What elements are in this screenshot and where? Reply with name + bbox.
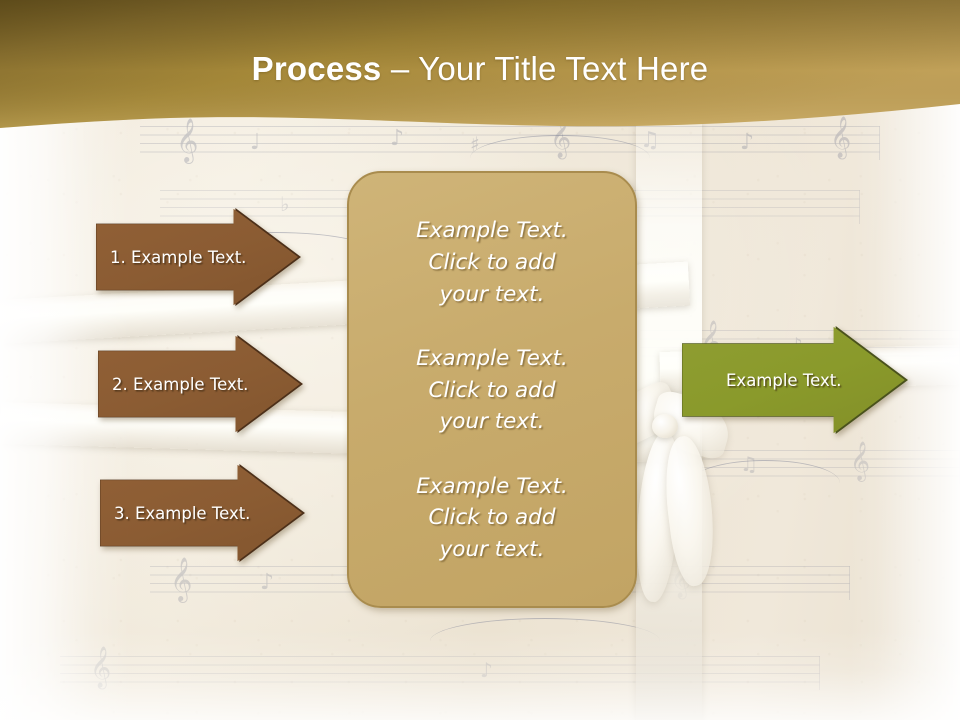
treble-clef-icon: 𝄞: [170, 560, 192, 598]
ribbon-bow-knot: [652, 414, 678, 438]
step-arrow-2[interactable]: 2. Example Text.: [98, 335, 303, 433]
note-icon: ♪: [260, 572, 274, 594]
panel-text-block-1[interactable]: Example Text. Click to add your text.: [367, 215, 617, 310]
slide-canvas: 𝄞 ♩ ♪ ♯ 𝄞 ♫ ♪ 𝄞 ♭ ♪ 𝄞 ♪ ♫ 𝄞 𝄞 ♪ ♫ ♯ 𝄞 𝄞 …: [0, 0, 960, 720]
page-title-strong: Process: [252, 50, 382, 87]
panel-text-block-2[interactable]: Example Text. Click to add your text.: [367, 343, 617, 438]
bottom-edge-vignette: [0, 630, 960, 720]
title-banner: Process – Your Title Text Here: [0, 0, 960, 140]
step-arrow-2-label: 2. Example Text.: [98, 375, 248, 394]
step-arrow-1-label: 1. Example Text.: [96, 248, 246, 267]
result-arrow[interactable]: Example Text.: [682, 326, 908, 434]
step-arrow-3-label: 3. Example Text.: [100, 504, 250, 523]
page-title-light: – Your Title Text Here: [381, 50, 708, 87]
panel-text-block-3[interactable]: Example Text. Click to add your text.: [367, 471, 617, 566]
step-arrow-1[interactable]: 1. Example Text.: [96, 208, 301, 306]
step-arrow-3[interactable]: 3. Example Text.: [100, 464, 305, 562]
center-text-panel[interactable]: Example Text. Click to add your text. Ex…: [347, 171, 637, 608]
result-arrow-label: Example Text.: [682, 371, 841, 390]
page-title: Process – Your Title Text Here: [0, 50, 960, 88]
